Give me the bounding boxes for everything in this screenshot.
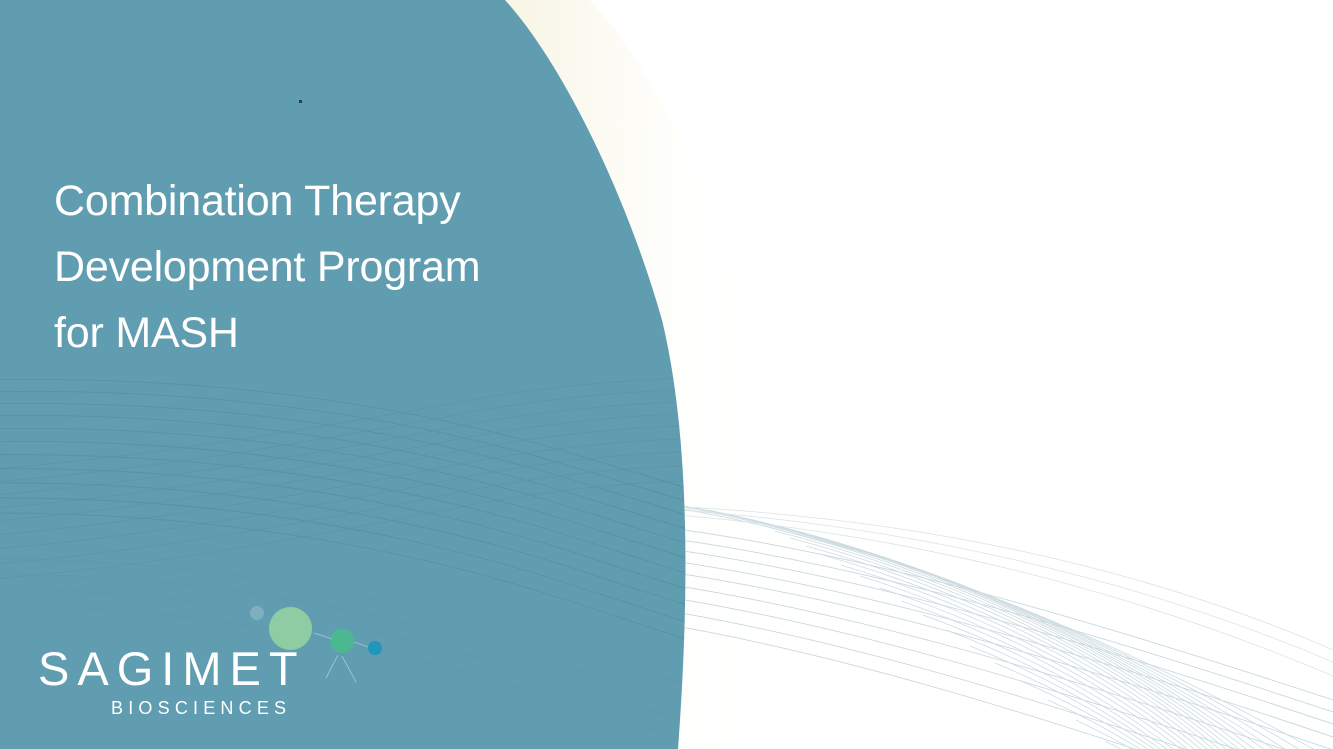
- title-line-2: Development Program: [54, 234, 614, 300]
- logo-dot-small-teal-icon: [368, 641, 382, 655]
- title-line-1: Combination Therapy: [54, 168, 614, 234]
- page-title: Combination Therapy Development Program …: [54, 168, 614, 366]
- logo-wordmark: SAGIMET: [38, 644, 306, 694]
- stray-dot-artifact: [299, 100, 302, 103]
- title-line-3: for MASH: [54, 300, 614, 366]
- sagimet-logo: SAGIMET BIOSCIENCES: [38, 600, 368, 725]
- title-slide: Combination Therapy Development Program …: [0, 0, 1333, 749]
- logo-subtitle: BIOSCIENCES: [111, 698, 291, 718]
